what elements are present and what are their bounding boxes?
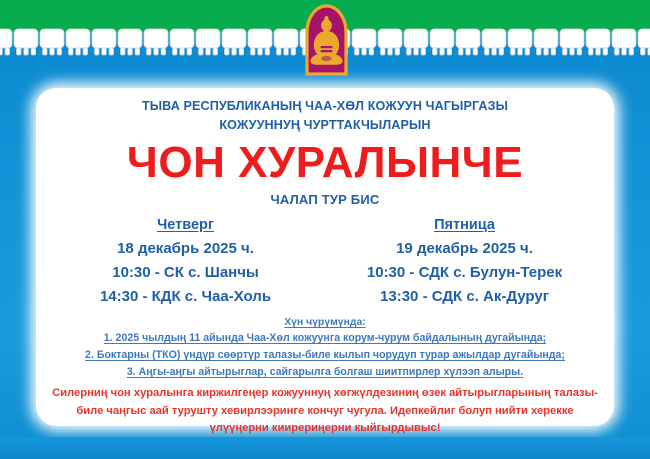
agenda-section: Хүн чүрүмүнда: 1. 2025 чылдың 11 айында …: [46, 315, 604, 381]
header-line-2: КОЖУУННУҢ ЧУРТТАКЧЫЛАРЫН: [46, 116, 604, 134]
header-line-1: ТЫВА РЕСПУБЛИКАНЫҢ ЧАА-ХӨЛ КОЖУУН ЧАГЫРГ…: [46, 97, 604, 115]
closing-paragraph: Силерниң чон хуралынга киржилгеңер кожуу…: [46, 385, 604, 438]
content-card: ТЫВА РЕСПУБЛИКАНЫҢ ЧАА-ХӨЛ КОЖУУН ЧАГЫРГ…: [36, 88, 614, 426]
poster-root: ТЫВА РЕСПУБЛИКАНЫҢ ЧАА-ХӨЛ КОЖУУН ЧАГЫРГ…: [0, 0, 650, 459]
schedule-column-thursday: Четверг 18 декабрь 2025 ч. 10:30 - СК с.…: [46, 215, 325, 309]
schedule-slot: 13:30 - СДК с. Ак-Дуруг: [325, 285, 604, 309]
buddha-medallion-icon: [303, 2, 350, 78]
agenda-item: 3. Аңгы-аңгы айтырыглар, сайгарылга болг…: [46, 364, 604, 381]
schedule-column-friday: Пятница 19 декабрь 2025 ч. 10:30 - СДК с…: [325, 215, 604, 309]
agenda-title: Хүн чүрүмүнда:: [46, 315, 604, 330]
bottom-blue-bar: [0, 437, 650, 459]
schedule-columns: Четверг 18 декабрь 2025 ч. 10:30 - СК с.…: [46, 215, 604, 309]
schedule-day-label: Четверг: [46, 215, 325, 236]
schedule-date: 19 декабрь 2025 ч.: [325, 237, 604, 261]
schedule-slot: 14:30 - КДК с. Чаа-Холь: [46, 285, 325, 309]
schedule-slot: 10:30 - СК с. Шанчы: [46, 261, 325, 285]
main-headline: ЧОН ХУРАЛЫНЧЕ: [46, 137, 604, 189]
closing-line: биле чаңгыс аай турушту хевирлээринге ко…: [46, 403, 604, 421]
schedule-day-label: Пятница: [325, 215, 604, 236]
schedule-date: 18 декабрь 2025 ч.: [46, 237, 325, 261]
agenda-item: 2. Боктарны (ТКО) үндүр сөөртүр талазы-б…: [46, 347, 604, 364]
closing-line: Силерниң чон хуралынга киржилгеңер кожуу…: [46, 385, 604, 403]
closing-line: үлүүңерни киирериңерни кыйгырдывыс!: [46, 420, 604, 438]
sub-headline: ЧАЛАП ТУР БИС: [46, 190, 604, 210]
schedule-slot: 10:30 - СДК с. Булун-Терек: [325, 261, 604, 285]
agenda-item: 1. 2025 чылдың 11 айында Чаа-Хөл кожуунг…: [46, 330, 604, 347]
